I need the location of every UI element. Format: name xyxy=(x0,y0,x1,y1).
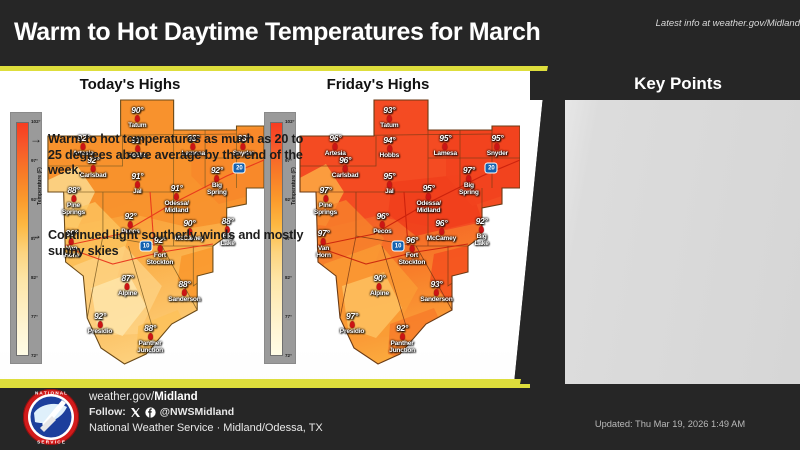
forecast-map-friday: 93°Tatum96°Artesia94°Hobbs95°Lamesa95°Sn… xyxy=(296,96,520,371)
facebook-icon[interactable] xyxy=(145,407,156,418)
latest-info-note: Latest info at weather.gov/Midland xyxy=(630,18,800,29)
updated-timestamp: Updated: Thu Mar 19, 2026 1:49 AM xyxy=(540,419,800,429)
page-title: Warm to Hot Daytime Temperatures for Mar… xyxy=(14,18,540,47)
footer-contact-block: weather.gov/Midland Follow: @NWSMidland … xyxy=(89,389,323,436)
colorbar-tick-label: 72° xyxy=(31,353,38,358)
maps-panel-top-rule xyxy=(0,66,552,71)
interstate-20-shield-icon: 20 xyxy=(485,163,498,174)
svg-text:N A T I O N A L: N A T I O N A L xyxy=(35,391,67,396)
footer-top-rule xyxy=(0,384,530,388)
footer-follow-label: Follow: xyxy=(89,405,126,420)
key-point-item: Continued light southerly winds and most… xyxy=(48,228,310,259)
colorbar-tick-label: 82° xyxy=(31,275,38,280)
key-points-title: Key Points xyxy=(556,74,800,94)
footer-website-office: Midland xyxy=(154,391,197,403)
colorbar-tick-label: 77° xyxy=(31,314,38,319)
footer-follow-row: Follow: @NWSMidland xyxy=(89,405,323,420)
map-title-today: Today's Highs xyxy=(20,76,240,93)
svg-text:S E R V I C E: S E R V I C E xyxy=(37,439,65,444)
arrow-icon: → xyxy=(30,132,42,146)
map-title-friday: Friday's Highs xyxy=(268,76,488,93)
footer-handle[interactable]: @NWSMidland xyxy=(160,405,234,420)
colorbar-tick-label: 82° xyxy=(285,275,292,280)
nws-logo: N A T I O N A L S E R V I C E xyxy=(22,388,80,446)
key-point-item: Warm to hot temperatures as much as 20 t… xyxy=(48,132,310,179)
colorbar-tick-label: 92° xyxy=(31,197,38,202)
colorbar-tick-label: 72° xyxy=(285,353,292,358)
footer-website-prefix: weather.gov/ xyxy=(89,391,154,403)
x-twitter-icon[interactable] xyxy=(130,407,141,418)
colorbar-tick-label: 102° xyxy=(31,119,41,124)
header-bar: Warm to Hot Daytime Temperatures for Mar… xyxy=(0,0,800,66)
arrow-icon: → xyxy=(30,228,42,242)
interstate-10-shield-icon: 10 xyxy=(392,241,405,252)
key-points-panel xyxy=(530,100,800,384)
colorbar-tick-label: 97° xyxy=(31,158,38,163)
colorbar-tick-label: 77° xyxy=(285,314,292,319)
colorbar-tick-label: 102° xyxy=(285,119,295,124)
colorbar-tick-label: 92° xyxy=(285,197,292,202)
footer-agency: National Weather Service · Midland/Odess… xyxy=(89,420,323,436)
footer-website[interactable]: weather.gov/Midland xyxy=(89,389,323,405)
colorbar-gradient xyxy=(16,122,29,356)
